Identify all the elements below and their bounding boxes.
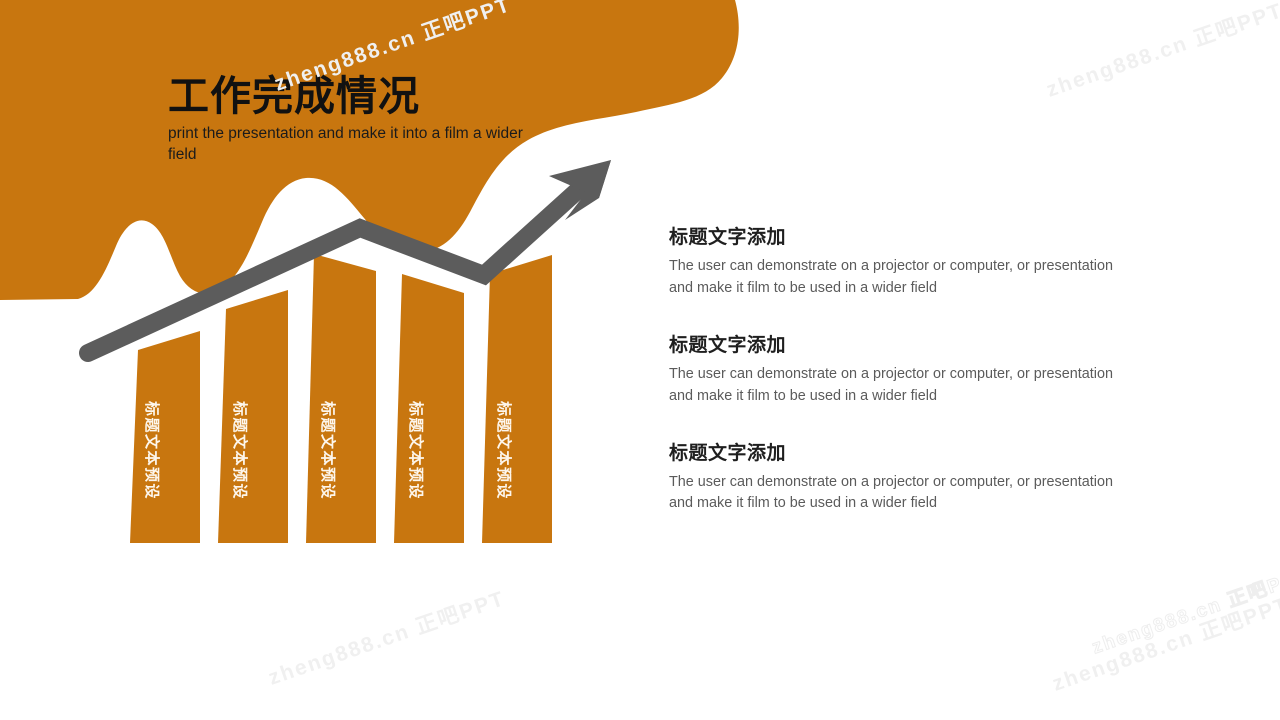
page-title: 工作完成情况 bbox=[168, 76, 648, 117]
watermark-top-right: zheng888.cn 正吧PPT bbox=[1042, 0, 1280, 104]
chart-bar-label-5: 标题文本预设 bbox=[494, 401, 515, 500]
content-item-1: 标题文字添加 The user can demonstrate on a pro… bbox=[669, 222, 1117, 300]
chart-bar-label-1: 标题文本预设 bbox=[142, 401, 163, 500]
content-item-1-body: The user can demonstrate on a projector … bbox=[669, 256, 1117, 300]
chart-bar-2 bbox=[218, 290, 288, 543]
watermark-bottom-right: zheng888.cn 正吧PPT bbox=[1048, 588, 1280, 697]
slide-canvas: 工作完成情况 print the presentation and make i… bbox=[0, 0, 1280, 720]
content-item-2-title: 标题文字添加 bbox=[669, 330, 1117, 357]
content-list: 标题文字添加 The user can demonstrate on a pro… bbox=[669, 222, 1117, 515]
chart-bar-4 bbox=[394, 274, 464, 543]
content-item-2-body: The user can demonstrate on a projector … bbox=[669, 364, 1117, 408]
bar-chart: 标题文本预设 标题文本预设 标题文本预设 标题文本预设 标题文本预设 bbox=[60, 150, 640, 560]
chart-bar-label-2: 标题文本预设 bbox=[230, 401, 251, 500]
content-item-1-title: 标题文字添加 bbox=[669, 222, 1117, 249]
content-item-2: 标题文字添加 The user can demonstrate on a pro… bbox=[669, 330, 1117, 408]
watermark-bottom-right-outline: zheng888.cn 正吧PPT bbox=[1088, 560, 1280, 660]
content-item-3-body: The user can demonstrate on a projector … bbox=[669, 472, 1117, 516]
chart-bar-3 bbox=[306, 254, 376, 543]
chart-bar-label-3: 标题文本预设 bbox=[318, 401, 339, 500]
content-item-3: 标题文字添加 The user can demonstrate on a pro… bbox=[669, 438, 1117, 516]
content-item-3-title: 标题文字添加 bbox=[669, 438, 1117, 465]
watermark-bottom-left: zheng888.cn 正吧PPT bbox=[264, 582, 509, 691]
chart-bar-label-4: 标题文本预设 bbox=[406, 401, 427, 500]
chart-bar-5 bbox=[482, 255, 552, 543]
chart-bar-1 bbox=[130, 331, 200, 543]
